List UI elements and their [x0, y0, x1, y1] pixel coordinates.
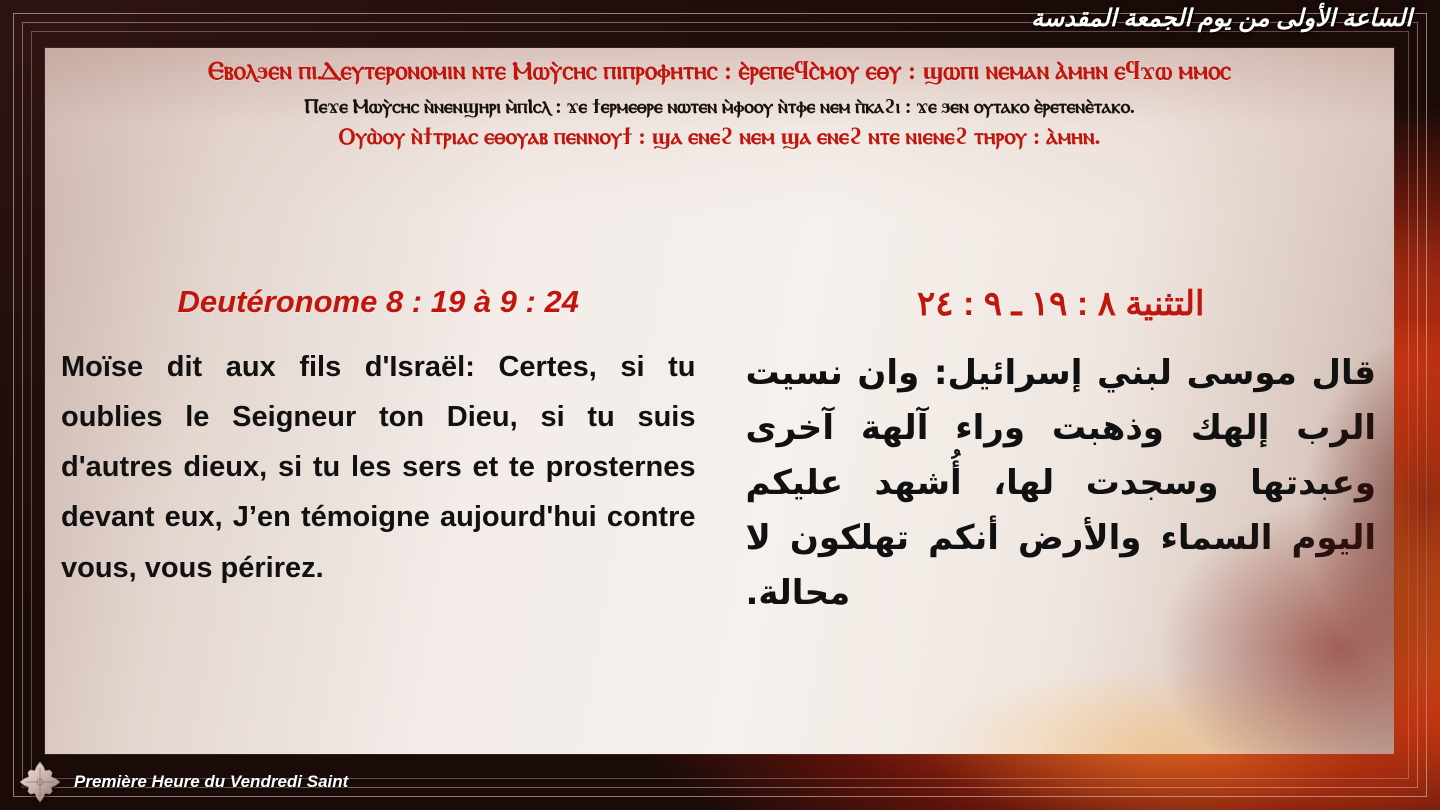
- french-reference: Deutéronome 8 : 19 à 9 : 24: [59, 284, 698, 320]
- arabic-body-text: قال موسى لبني إسرائيل: وان نسيت الرب إله…: [742, 346, 1381, 621]
- coptic-line-2: Ⲡⲉϫⲉ Ⲙⲱⲩ̀ⲥⲏⲥ ⲛ̀ⲛⲉⲛϣⲏⲣⲓ ⲙ̀ⲡⲒⲥⲗ : ϫⲉ ϯⲉⲣⲙⲉ…: [45, 96, 1394, 118]
- content-panel: Ⲉⲃⲟⲗϧⲉⲛ ⲡⲓⲆⲉⲩⲧⲉⲣⲟⲛⲟⲙⲓⲛ ⲛⲧⲉ Ⲙⲱⲩ̀ⲥⲏⲥ ⲡⲓⲡⲣⲟ…: [45, 48, 1394, 754]
- coptic-line-1: Ⲉⲃⲟⲗϧⲉⲛ ⲡⲓⲆⲉⲩⲧⲉⲣⲟⲛⲟⲙⲓⲛ ⲛⲧⲉ Ⲙⲱⲩ̀ⲥⲏⲥ ⲡⲓⲡⲣⲟ…: [45, 58, 1394, 86]
- footer-bar: Première Heure du Vendredi Saint: [0, 754, 1440, 810]
- coptic-line-3: Ⲟⲩⲱ̀ⲟⲩ ⲛ̀ϯⲧⲣⲓⲁⲥ ⲉⲑⲟⲩⲁⲃ ⲡⲉⲛⲛⲟⲩϯ : ϣⲁ ⲉⲛⲉϩ…: [45, 124, 1394, 150]
- header-title-arabic: الساعة الأولى من يوم الجمعة المقدسة: [772, 4, 1412, 33]
- footer-title: Première Heure du Vendredi Saint: [74, 772, 348, 792]
- arabic-reference: التثنية ٨ : ١٩ ـ ٩ : ٢٤: [742, 284, 1381, 324]
- french-column: Deutéronome 8 : 19 à 9 : 24 Moïse dit au…: [45, 284, 720, 754]
- scripture-columns: Deutéronome 8 : 19 à 9 : 24 Moïse dit au…: [45, 284, 1394, 754]
- slide-background: الساعة الأولى من يوم الجمعة المقدسة Ⲉⲃⲟⲗ…: [0, 0, 1440, 810]
- french-body-text: Moïse dit aux fils d'Israël: Certes, si …: [59, 342, 698, 593]
- coptic-cross-icon: [18, 760, 62, 804]
- arabic-column: التثنية ٨ : ١٩ ـ ٩ : ٢٤ قال موسى لبني إس…: [720, 284, 1395, 754]
